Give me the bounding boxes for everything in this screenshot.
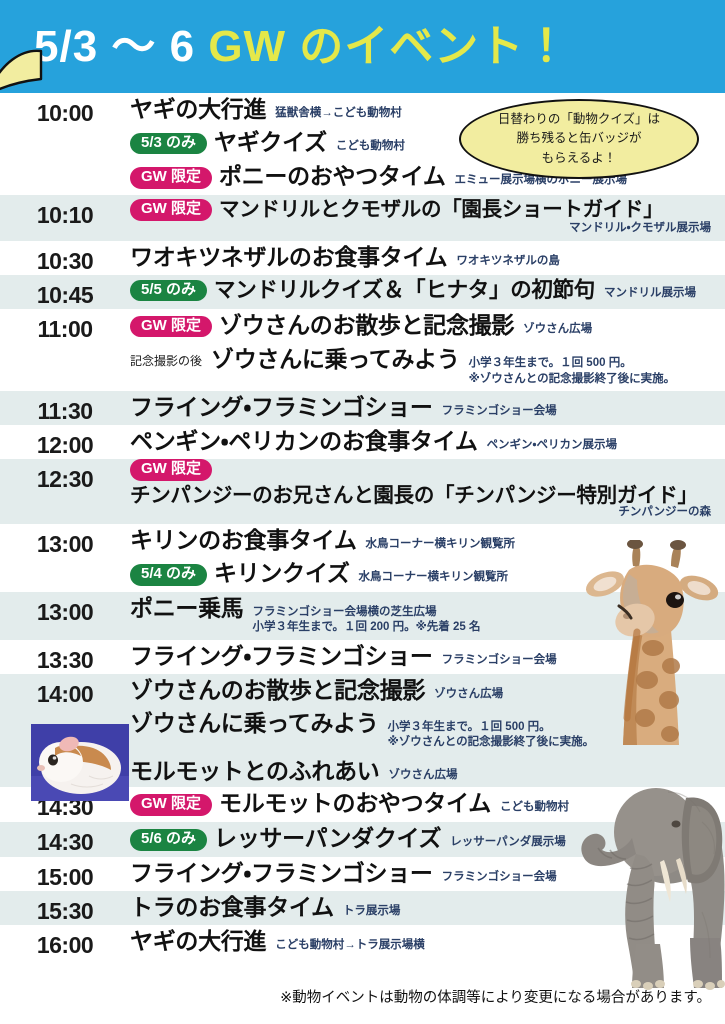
event-venue: ペンギン・ペリカン展示場: [487, 438, 617, 454]
event-venue: フラミンゴショー会場: [442, 404, 557, 420]
event-venue-line-1: レッサーパンダ展示場: [450, 836, 565, 848]
event-venue-line-1: フラミンゴショー会場横の芝生広場: [253, 606, 437, 618]
event-time: 12:00: [0, 425, 130, 459]
event-venue: フラミンゴショー会場: [442, 870, 557, 886]
event-time: 13:30: [0, 640, 130, 674]
event-venue-line-1: ゾウさん広場: [434, 688, 503, 700]
event-venue-line-1: マンドリル展示場: [604, 287, 696, 299]
gw-limited-badge: GW 限定: [130, 199, 212, 221]
event-venue-line-1: ゾウさん広場: [388, 769, 457, 781]
event-entry: 5/5 のみマンドリルクイズ＆「ヒナタ」の初節句マンドリル展示場: [130, 275, 719, 308]
poster-header: 5/3 ～ 6 GW のイベント！: [0, 0, 725, 93]
speech-bubble-line-1: 日替わりの「動物クイズ」は: [498, 110, 660, 129]
event-title: レッサーパンダクイズ: [214, 825, 441, 852]
event-time: 10:10: [0, 195, 130, 229]
event-venue: 水鳥コーナー横キリン観覧所: [359, 570, 509, 586]
event-venue-line-2: ※ゾウさんとの記念撮影終了後に実施。: [469, 372, 676, 388]
event-title: トラのお食事タイム: [130, 894, 334, 921]
event-venue: こども動物村: [500, 800, 569, 816]
page-title-accent: GW のイベント！: [208, 22, 569, 71]
event-venue: マンドリル・クモザル展示場: [130, 221, 719, 237]
event-venue-line-1: こども動物村: [336, 140, 405, 152]
event-venue-line-2: ※ゾウさんとの記念撮影終了後に実施。: [388, 735, 595, 751]
event-venue-line-2: 小学３年生まで。１回 200 円。※先着 25 名: [253, 620, 481, 636]
event-title: ポニーのおやつタイム: [219, 163, 446, 190]
event-time: 11:00: [0, 309, 130, 343]
event-venue-line-1: こども動物村→トラ展示場横: [275, 939, 425, 951]
event-venue: マンドリル展示場: [604, 286, 696, 302]
event-venue-line-1: フラミンゴショー会場: [442, 654, 557, 666]
footer-note: ※動物イベントは動物の体調等により変更になる場合があります。: [0, 986, 725, 1007]
event-venue: フラミンゴショー会場: [442, 653, 557, 669]
event-venue-line-1: ゾウさん広場: [523, 323, 592, 335]
event-venue: トラ展示場: [343, 904, 401, 920]
schedule-row: 10:10GW 限定マンドリルとクモザルの「園長ショートガイド」マンドリル・クモ…: [0, 195, 725, 240]
event-venue-line-1: フラミンゴショー会場: [442, 405, 557, 417]
event-venue-line-1: ペンギン・ペリカン展示場: [487, 439, 617, 451]
event-time: 14:30: [0, 822, 130, 856]
event-title: フライング・フラミンゴショー: [130, 643, 433, 670]
guinea-pig-photo: [31, 724, 129, 801]
schedule-row: 11:00GW 限定ゾウさんのお散歩と記念撮影ゾウさん広場記念撮影の後ゾウさんに…: [0, 309, 725, 392]
event-title: マンドリルとクモザルの「園長ショートガイド」: [219, 198, 663, 222]
schedule-row: 11:30フライング・フラミンゴショーフラミンゴショー会場: [0, 391, 725, 425]
event-time: 11:30: [0, 391, 130, 425]
gw-limited-badge: GW 限定: [130, 794, 212, 816]
gw-limited-badge: GW 限定: [130, 459, 212, 481]
event-list: GW 限定チンパンジーのお兄さんと園長の「チンパンジー特別ガイド」チンパンジーの…: [130, 459, 725, 524]
giraffe-photo: [575, 540, 725, 745]
event-venue: 水鳥コーナー横キリン観覧所: [366, 537, 516, 553]
event-title: モルモットとのふれあい: [130, 758, 379, 785]
date-only-badge: 5/5 のみ: [130, 280, 207, 302]
event-entry: GW 限定チンパンジーのお兄さんと園長の「チンパンジー特別ガイド」チンパンジーの…: [130, 459, 719, 524]
event-list: GW 限定マンドリルとクモザルの「園長ショートガイド」マンドリル・クモザル展示場: [130, 195, 725, 240]
event-entry: 記念撮影の後ゾウさんに乗ってみよう小学３年生まで。１回 500 円。※ゾウさんと…: [130, 343, 719, 391]
event-poster: 5/3 ～ 6 GW のイベント！ 10:00ヤギの大行進猛獣舎横→こども動物村…: [0, 0, 725, 1024]
event-venue: ゾウさん広場: [388, 768, 457, 784]
event-venue-line-1: こども動物村: [500, 801, 569, 813]
event-entry: GW 限定ゾウさんのお散歩と記念撮影ゾウさん広場: [130, 309, 719, 344]
event-title: ゾウさんに乗ってみよう: [211, 346, 460, 373]
date-only-badge: 5/4 のみ: [130, 564, 207, 586]
event-title: ポニー乗馬: [130, 595, 244, 622]
event-title: ペンギン・ペリカンのお食事タイム: [130, 428, 478, 455]
event-venue-line-1: 猛獣舎横→こども動物村: [275, 107, 402, 119]
event-title: モルモットのおやつタイム: [219, 790, 491, 817]
event-venue-line-1: 水鳥コーナー横キリン観覧所: [366, 538, 516, 550]
event-title: ヤギの大行進: [130, 928, 266, 955]
event-venue-line-1: 小学３年生まで。１回 500 円。: [469, 357, 632, 369]
event-time: 13:00: [0, 592, 130, 626]
schedule-row: 10:30ワオキツネザルのお食事タイムワオキツネザルの島: [0, 241, 725, 275]
event-venue: 小学３年生まで。１回 500 円。※ゾウさんとの記念撮影終了後に実施。: [388, 720, 595, 751]
event-title: キリンのお食事タイム: [130, 527, 357, 554]
event-title: フライング・フラミンゴショー: [130, 394, 433, 421]
event-list: GW 限定ゾウさんのお散歩と記念撮影ゾウさん広場記念撮影の後ゾウさんに乗ってみよ…: [130, 309, 725, 392]
event-time: 16:00: [0, 925, 130, 959]
event-title: マンドリルクイズ＆「ヒナタ」の初節句: [214, 278, 595, 303]
gw-limited-badge: GW 限定: [130, 167, 212, 189]
event-time: 15:30: [0, 891, 130, 925]
event-title: ゾウさんのお散歩と記念撮影: [219, 312, 514, 339]
event-venue: こども動物村: [336, 139, 405, 155]
event-entry: ワオキツネザルのお食事タイムワオキツネザルの島: [130, 241, 719, 274]
event-time: 14:00: [0, 674, 130, 708]
event-time: 15:00: [0, 857, 130, 891]
event-venue-line-1: 小学３年生まで。１回 500 円。: [388, 721, 551, 733]
event-venue-line-1: マンドリル・クモザル展示場: [569, 222, 711, 234]
event-list: ワオキツネザルのお食事タイムワオキツネザルの島: [130, 241, 725, 274]
event-venue: 猛獣舎横→こども動物村: [275, 106, 402, 122]
speech-bubble: 日替わりの「動物クイズ」は 勝ち残ると缶バッジが もらえるよ！: [459, 99, 699, 179]
event-prefix-note: 記念撮影の後: [130, 352, 202, 369]
speech-bubble-line-2: 勝ち残ると缶バッジが: [516, 129, 641, 148]
event-entry: ペンギン・ペリカンのお食事タイムペンギン・ペリカン展示場: [130, 425, 719, 458]
page-title: 5/3 ～ 6 GW のイベント！: [34, 25, 569, 69]
event-title: ワオキツネザルのお食事タイム: [130, 244, 447, 271]
event-title: キリンクイズ: [214, 560, 350, 587]
event-venue: ワオキツネザルの島: [456, 254, 560, 270]
event-entry: フライング・フラミンゴショーフラミンゴショー会場: [130, 391, 719, 424]
event-title: フライング・フラミンゴショー: [130, 860, 433, 887]
event-time: 13:00: [0, 524, 130, 558]
event-venue: ゾウさん広場: [523, 322, 592, 338]
event-venue: レッサーパンダ展示場: [450, 835, 565, 851]
event-list: フライング・フラミンゴショーフラミンゴショー会場: [130, 391, 725, 424]
date-only-badge: 5/6 のみ: [130, 829, 207, 851]
event-venue: チンパンジーの森: [130, 505, 719, 521]
event-time: 12:30: [0, 459, 130, 493]
event-venue: 小学３年生まで。１回 500 円。※ゾウさんとの記念撮影終了後に実施。: [469, 356, 676, 387]
event-title: ゾウさんのお散歩と記念撮影: [130, 677, 425, 704]
gw-limited-badge: GW 限定: [130, 316, 212, 338]
speech-bubble-line-3: もらえるよ！: [542, 149, 617, 168]
event-time: 10:30: [0, 241, 130, 275]
date-only-badge: 5/3 のみ: [130, 133, 207, 155]
event-venue-line-1: チンパンジーの森: [618, 506, 711, 518]
event-venue-line-1: ワオキツネザルの島: [456, 255, 560, 267]
event-list: ペンギン・ペリカンのお食事タイムペンギン・ペリカン展示場: [130, 425, 725, 458]
event-title: ヤギクイズ: [214, 129, 327, 156]
event-venue: ゾウさん広場: [434, 687, 503, 703]
page-title-date: 5/3 ～ 6: [34, 22, 208, 71]
event-title: ゾウさんに乗ってみよう: [130, 710, 379, 737]
event-entry: GW 限定マンドリルとクモザルの「園長ショートガイド」マンドリル・クモザル展示場: [130, 195, 719, 240]
event-venue-line-1: トラ展示場: [343, 905, 401, 917]
schedule-row: 10:455/5 のみマンドリルクイズ＆「ヒナタ」の初節句マンドリル展示場: [0, 275, 725, 309]
schedule-row: 12:00ペンギン・ペリカンのお食事タイムペンギン・ペリカン展示場: [0, 425, 725, 459]
elephant-photo: [572, 762, 725, 990]
event-list: 5/5 のみマンドリルクイズ＆「ヒナタ」の初節句マンドリル展示場: [130, 275, 725, 308]
event-title: ヤギの大行進: [130, 96, 266, 123]
event-venue-line-1: フラミンゴショー会場: [442, 871, 557, 883]
event-venue-line-1: 水鳥コーナー横キリン観覧所: [359, 571, 509, 583]
event-venue: こども動物村→トラ展示場横: [275, 938, 425, 954]
schedule-row: 12:30GW 限定チンパンジーのお兄さんと園長の「チンパンジー特別ガイド」チン…: [0, 459, 725, 524]
event-time: 10:45: [0, 275, 130, 309]
event-venue: フラミンゴショー会場横の芝生広場小学３年生まで。１回 200 円。※先着 25 …: [253, 605, 481, 636]
